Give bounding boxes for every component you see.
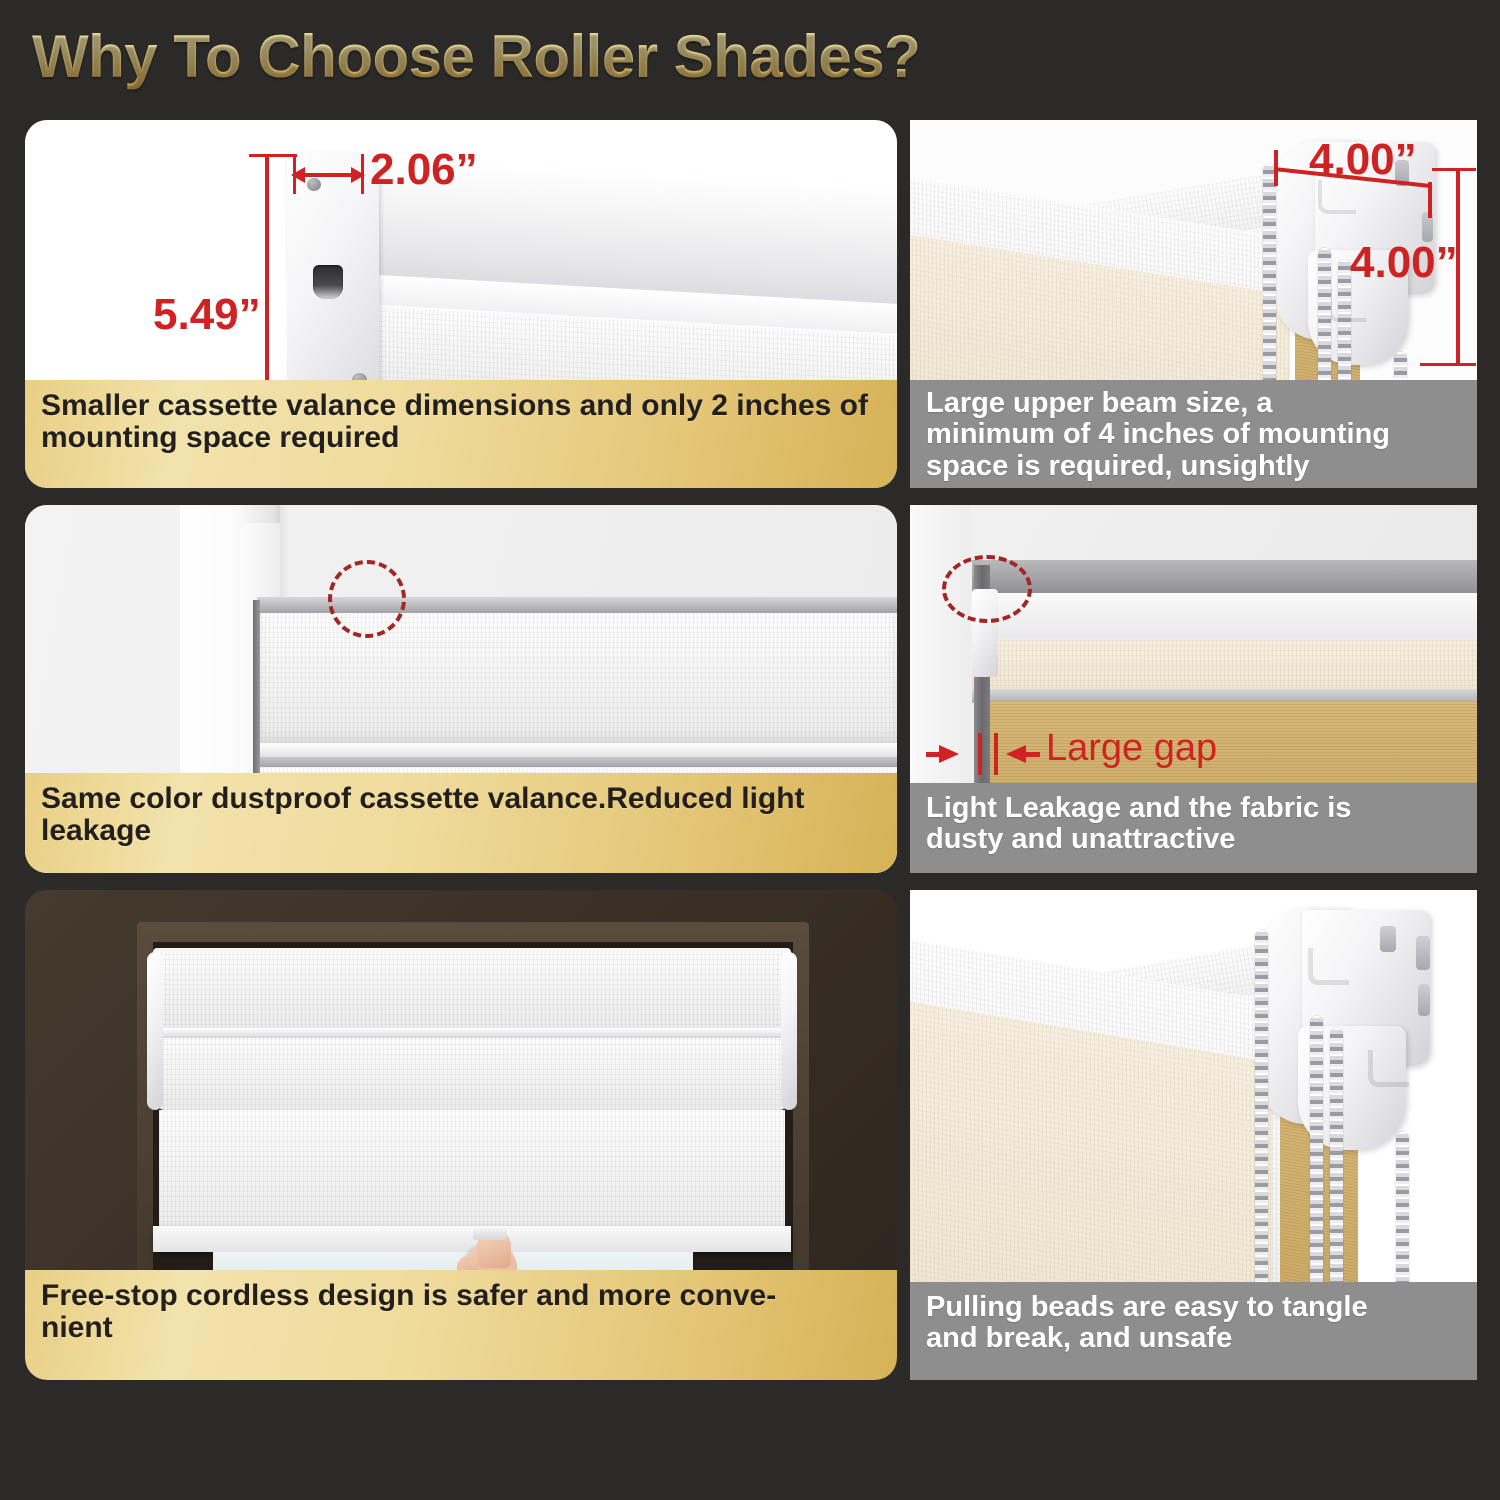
- panel-bottom-left: Free-stop cordless design is safer and m…: [25, 890, 897, 1380]
- beam-width-label: 4.00”: [1309, 135, 1417, 185]
- caption-bottom-left: Free-stop cordless design is safer and m…: [25, 1270, 897, 1380]
- width-dim-arrow-left: [291, 167, 305, 183]
- gap-arrow-right-tail: [1024, 752, 1040, 757]
- bracket-slot-icon: [1380, 926, 1396, 952]
- shade-fabric: [159, 1110, 785, 1232]
- caption-top-left: Smaller cassette valance dimensions and …: [25, 380, 897, 488]
- bracket-arrow-emboss-icon: [1308, 948, 1349, 985]
- page-title: Why To Choose Roller Shades?: [32, 22, 920, 91]
- height-dim-tick-top: [249, 154, 297, 157]
- valance-end-cap: [147, 952, 163, 1110]
- panel-top-left: 2.06” 5.49” Smaller cassette valance dim…: [25, 120, 897, 488]
- bracket-arrow-emboss-icon: [1318, 180, 1356, 214]
- gap-highlight-circle: [942, 555, 1032, 623]
- pull-tab: [473, 1228, 507, 1240]
- bracket-slot-icon: [1418, 984, 1430, 1016]
- panel-mid-right: Large gap Light Leakage and the fabric i…: [910, 505, 1477, 873]
- roller-tube: [972, 560, 1477, 594]
- height-dimension-label: 5.49”: [153, 290, 261, 340]
- gap-marker-bar: [994, 733, 998, 775]
- bracket-arrow-emboss-icon: [1368, 1050, 1409, 1087]
- beam-height-tick-bottom: [1420, 363, 1476, 366]
- panel-mid-left: smaller gap Same color dustproof cassett…: [25, 505, 897, 873]
- valance-end-cap: [781, 952, 797, 1110]
- panel-top-right: 4.00” 4.00” Large upper beam size, a min…: [910, 120, 1477, 488]
- caption-top-right: Large upper beam size, a minimum of 4 in…: [910, 380, 1477, 488]
- gap-marker-bar: [978, 733, 982, 775]
- infographic-root: Why To Choose Roller Shades?: [0, 0, 1500, 1500]
- caption-bottom-right: Pulling beads are easy to tangle and bre…: [910, 1282, 1477, 1380]
- caption-mid-left: Same color dustproof cassette valance.Re…: [25, 773, 897, 873]
- screw-icon: [307, 178, 321, 191]
- caption-mid-right: Light Leakage and the fabric is dusty an…: [910, 783, 1477, 873]
- gap-arrow-right: [1006, 745, 1026, 763]
- panel-bottom-right: Pulling beads are easy to tangle and bre…: [910, 890, 1477, 1380]
- bracket-slot-icon: [1416, 936, 1430, 970]
- gap-arrow-left: [939, 745, 959, 763]
- large-gap-label: Large gap: [1046, 727, 1217, 770]
- width-dim-arrow-right: [351, 167, 365, 183]
- beam-height-tick-top: [1432, 168, 1476, 171]
- gap-highlight-circle: [328, 560, 406, 638]
- width-dimension-label: 2.06”: [370, 145, 478, 195]
- beam-height-label: 4.00”: [1350, 238, 1458, 288]
- gap-arrow-left-tail: [926, 752, 942, 757]
- cassette-valance: [153, 948, 791, 1030]
- end-cap-slot-icon: [313, 265, 343, 299]
